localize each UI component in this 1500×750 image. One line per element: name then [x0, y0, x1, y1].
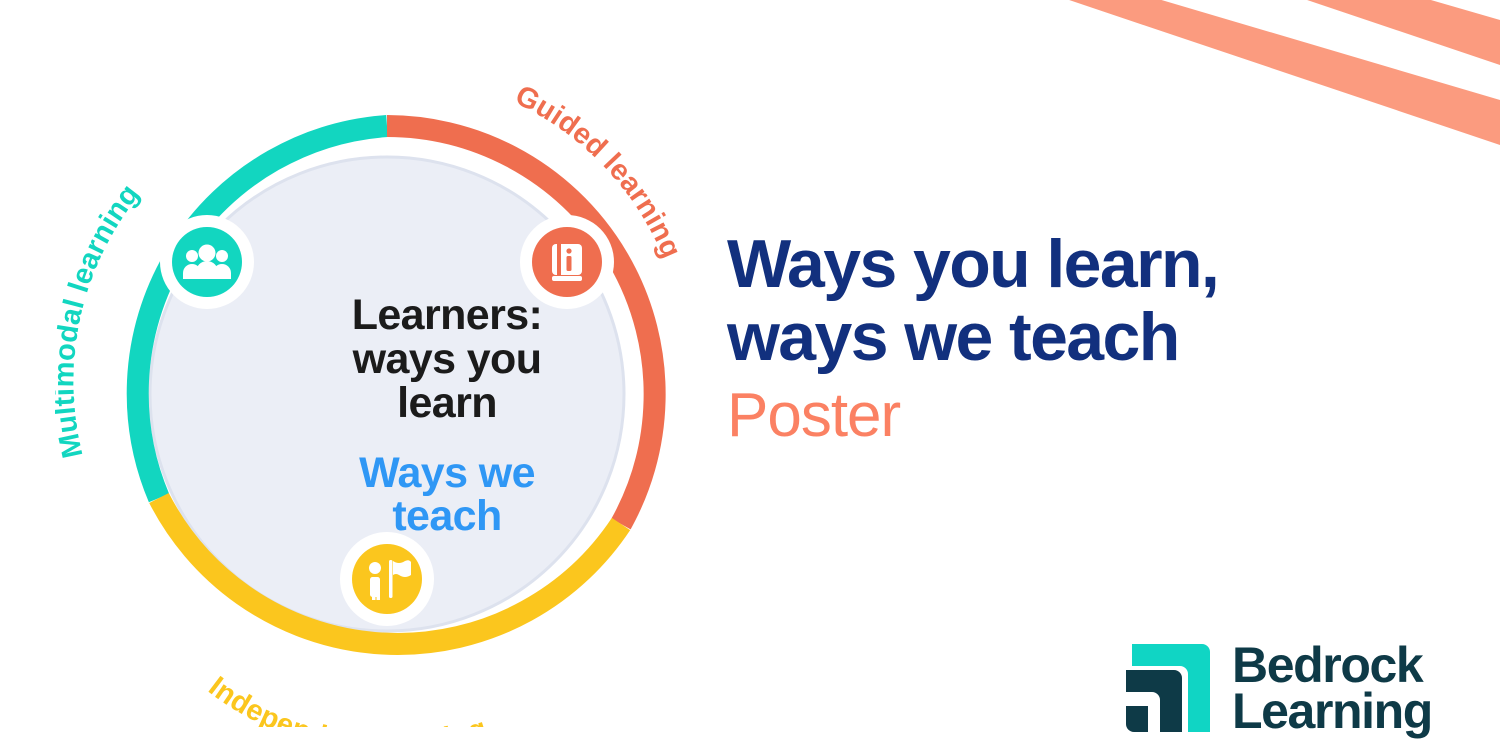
poster-canvas: Multimodal learning Guided learning Inde…: [0, 0, 1500, 750]
icon-badge-independent: [352, 544, 422, 614]
logo-wordmark-line-2: Learning: [1232, 688, 1432, 735]
diagonal-stripes-decoration: [980, 0, 1500, 170]
headline-block: Ways you learn, ways we teach Poster: [727, 228, 1427, 450]
stripe-1: [980, 0, 1500, 145]
stripe-2: [1040, 0, 1500, 65]
segment-icon-independent[interactable]: [352, 544, 422, 614]
page-title-line-2: ways we teach: [727, 299, 1179, 375]
logo-wordmark-line-1: Bedrock: [1232, 642, 1432, 689]
page-title-line-1: Ways you learn,: [727, 226, 1218, 302]
segment-icon-guided[interactable]: [532, 227, 602, 297]
bedrock-logo-wordmark: Bedrock Learning: [1232, 642, 1432, 735]
segment-label-independent: Independent learning: [203, 671, 491, 727]
bedrock-logo-mark: [1122, 640, 1214, 736]
learning-wheel-diagram: Multimodal learning Guided learning Inde…: [55, 62, 720, 727]
page-title: Ways you learn, ways we teach: [727, 228, 1427, 375]
bedrock-learning-logo[interactable]: Bedrock Learning: [1122, 640, 1432, 736]
segment-icon-multimodal[interactable]: [172, 227, 242, 297]
page-subtitle: Poster: [727, 381, 1427, 450]
stripe-group: [980, 0, 1500, 145]
